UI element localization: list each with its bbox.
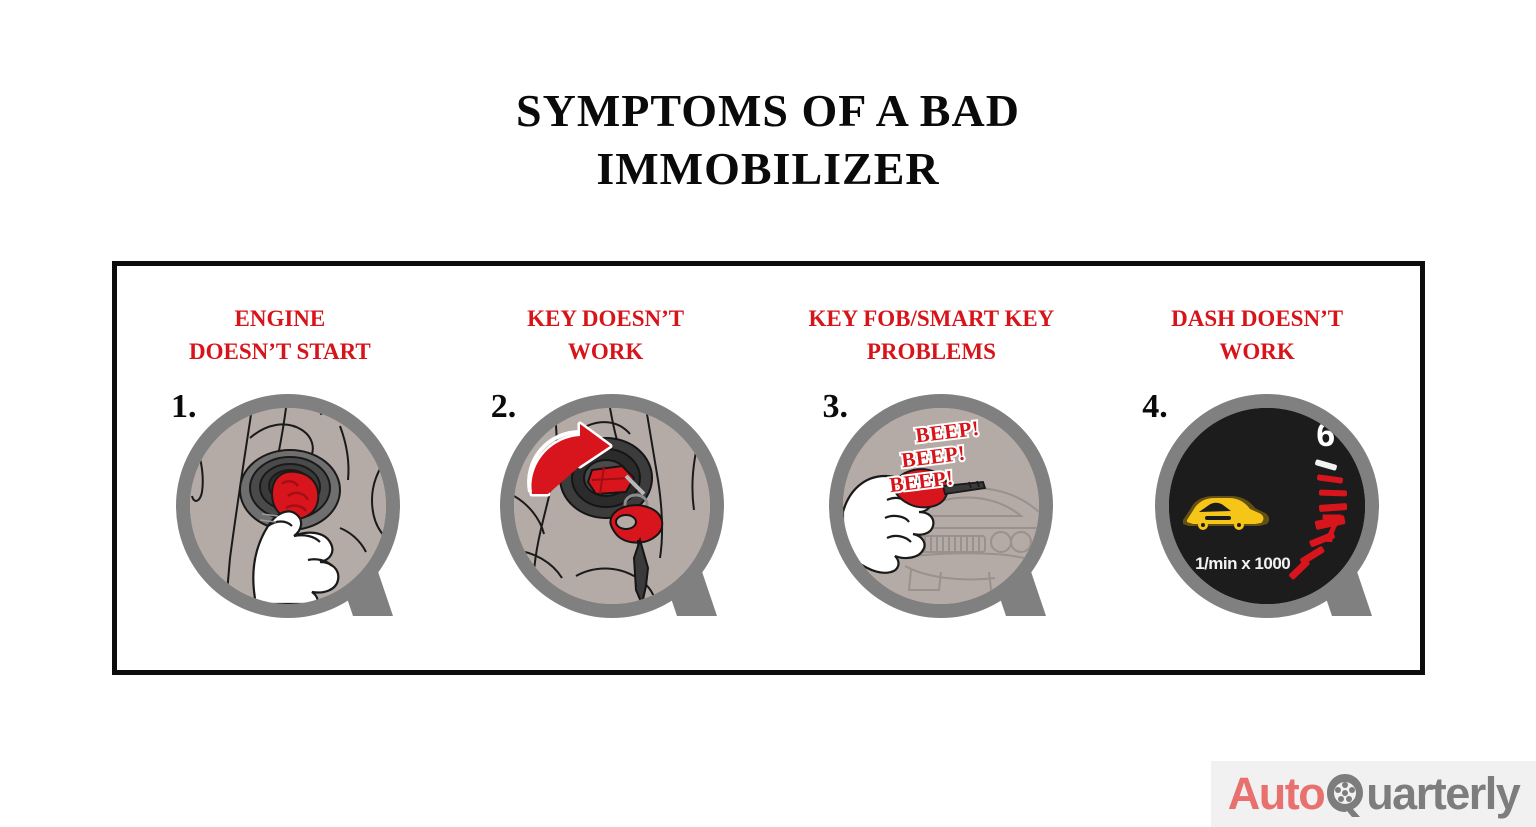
illustration-key-fob-beeping: BEEP! BEEP! BEEP! <box>843 408 1039 604</box>
symptoms-panel: ENGINE DOESN’T START 1. <box>112 261 1425 675</box>
symptom-heading-1: ENGINE DOESN’T START <box>117 302 443 368</box>
symptom-number-3: 3. <box>823 388 849 426</box>
symptom-heading-3-line-1: KEY FOB/SMART KEY <box>777 302 1087 335</box>
page-title-line-1: SYMPTOMS OF A BAD <box>0 82 1536 140</box>
symptom-heading-3-line-2: PROBLEMS <box>777 335 1087 368</box>
push-start-button-with-hand-icon <box>190 408 386 604</box>
symptom-number-1: 1. <box>171 388 197 426</box>
symptom-heading-4-line-2: WORK <box>1102 335 1412 368</box>
symptoms-grid: ENGINE DOESN’T START 1. <box>117 266 1420 670</box>
wheel-rim-icon <box>1324 770 1366 818</box>
page-title: SYMPTOMS OF A BAD IMMOBILIZER <box>0 82 1536 198</box>
symptom-item-key-doesnt-work: KEY DOESN’T WORK 2. <box>443 266 769 670</box>
illustration-push-start-button <box>190 408 386 604</box>
illustration-tachometer: 6 7 1/min x 1000 <box>1169 408 1365 604</box>
key-fob-in-hand-beeping-icon <box>843 408 1039 604</box>
symptom-heading-1-line-1: ENGINE <box>125 302 435 335</box>
symptom-item-engine-doesnt-start: ENGINE DOESN’T START 1. <box>117 266 443 670</box>
q-badge-4: 6 7 1/min x 1000 <box>1142 384 1392 632</box>
symptom-heading-2-line-2: WORK <box>451 335 761 368</box>
symptom-heading-2: KEY DOESN’T WORK <box>443 302 769 368</box>
key-in-ignition-turning-icon <box>514 408 710 604</box>
brand-logo: Auto uarterly <box>1211 761 1536 827</box>
symptom-heading-1-line-2: DOESN’T START <box>125 335 435 368</box>
tach-mark-6: 6 <box>1316 416 1335 455</box>
q-badge-1 <box>163 384 413 632</box>
symptom-item-key-fob-problems: KEY FOB/SMART KEY PROBLEMS 3. <box>769 266 1095 670</box>
illustration-key-in-ignition <box>514 408 710 604</box>
symptom-heading-4-line-1: DASH DOESN’T <box>1102 302 1412 335</box>
page-title-line-2: IMMOBILIZER <box>0 140 1536 198</box>
q-badge-2 <box>487 384 737 632</box>
symptom-number-4: 4. <box>1142 388 1168 426</box>
symptom-heading-4: DASH DOESN’T WORK <box>1094 302 1420 368</box>
brand-logo-text: Auto uarterly <box>1228 768 1520 820</box>
symptom-heading-3: KEY FOB/SMART KEY PROBLEMS <box>769 302 1095 368</box>
brand-logo-quarterly: uarterly <box>1366 768 1519 820</box>
tachometer-warning-light-icon <box>1169 408 1365 604</box>
symptom-item-dash-doesnt-work: DASH DOESN’T WORK 4. <box>1094 266 1420 670</box>
symptom-number-2: 2. <box>491 388 517 426</box>
symptom-heading-2-line-1: KEY DOESN’T <box>451 302 761 335</box>
tach-mark-7: 7 <box>1321 507 1343 552</box>
q-badge-3: BEEP! BEEP! BEEP! <box>816 384 1066 632</box>
tach-unit-label: 1/min x 1000 <box>1195 554 1290 574</box>
brand-logo-auto: Auto <box>1228 768 1324 820</box>
